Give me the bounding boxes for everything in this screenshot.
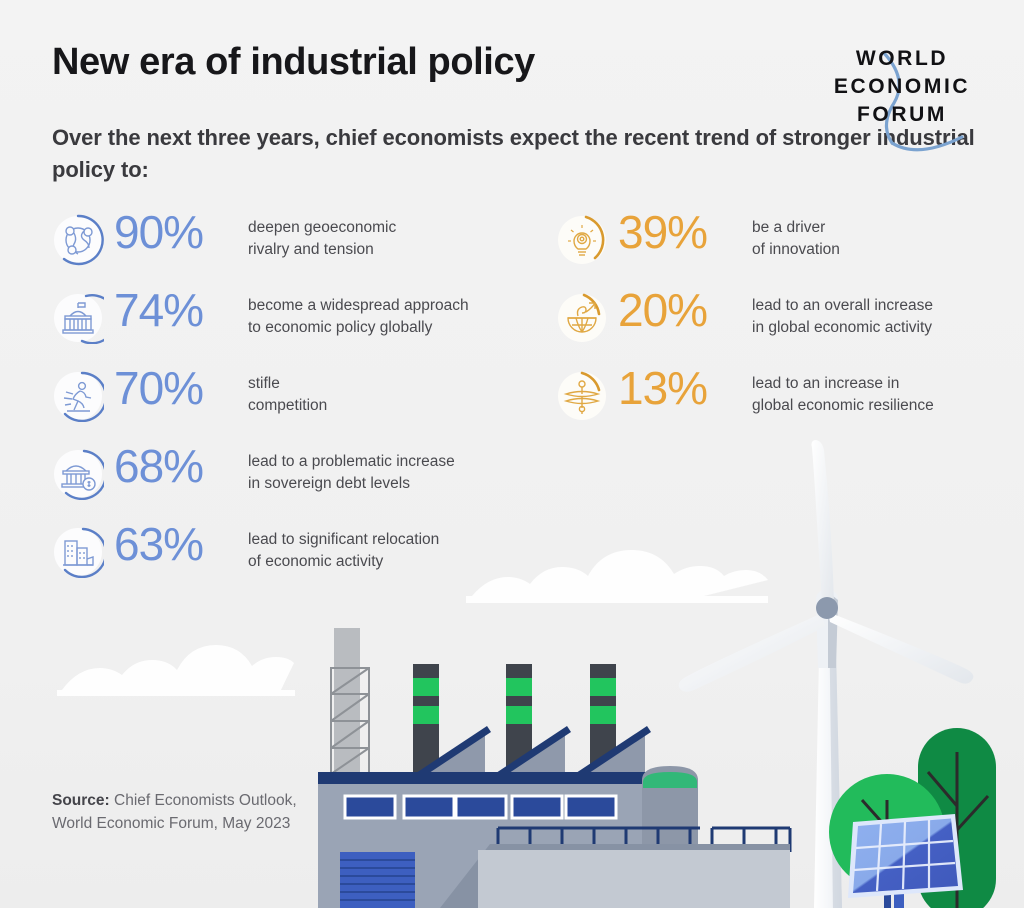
- stat-label: become a widespread approach to economic…: [248, 295, 578, 339]
- stat-label: deepen geoeconomic rivalry and tension: [248, 217, 578, 261]
- stat-label: lead to an increase in global economic r…: [752, 373, 1024, 417]
- stat-value: 39%: [618, 209, 707, 255]
- stat-value: 63%: [114, 521, 203, 567]
- stat-row: 13% lead to an increase in global econom…: [556, 370, 1024, 448]
- stat-label: stifle competition: [248, 373, 578, 417]
- stat-row: 70% stifle competition: [52, 370, 572, 448]
- stat-label: lead to an overall increase in global ec…: [752, 295, 1024, 339]
- bank-dollar-icon: [52, 448, 104, 500]
- stat-label: lead to significant relocation of econom…: [248, 529, 578, 573]
- stat-row: 39% be a driver of innovation: [556, 214, 1024, 292]
- balance-scales-icon: [556, 370, 608, 422]
- stats-column-left: 90% deepen geoeconomic rivalry and tensi…: [52, 214, 572, 604]
- infographic-canvas: New era of industrial policy Over the ne…: [0, 0, 1024, 908]
- stat-value: 68%: [114, 443, 203, 489]
- globe-network-icon: [52, 214, 104, 266]
- wef-logo-line2: ECONOMIC: [812, 73, 992, 101]
- stat-row: 74% become a widespread approach to econ…: [52, 292, 572, 370]
- stats-column-right: 39% be a driver of innovation 20%: [556, 214, 1024, 448]
- garage-door: [340, 852, 415, 908]
- wef-logo-line1: WORLD: [812, 45, 992, 73]
- stat-value: 20%: [618, 287, 707, 333]
- runner-icon: [52, 370, 104, 422]
- stat-row: 20% lead to an overall increase in globa…: [556, 292, 1024, 370]
- government-building-icon: [52, 292, 104, 344]
- stat-value: 74%: [114, 287, 203, 333]
- factory-windows: [345, 796, 616, 818]
- globe-growth-icon: [556, 292, 608, 344]
- source-prefix: Source:: [52, 792, 110, 809]
- buildings-relocation-icon: [52, 526, 104, 578]
- source-note: Source: Chief Economists Outlook, World …: [52, 790, 312, 836]
- stat-label: lead to a problematic increase in sovere…: [248, 451, 578, 495]
- page-title: New era of industrial policy: [52, 41, 535, 84]
- stat-label: be a driver of innovation: [752, 217, 1024, 261]
- wef-logo: WORLD ECONOMIC FORUM: [812, 45, 992, 157]
- stat-value: 13%: [618, 365, 707, 411]
- stat-row: 68% lead to a problematic increase in so…: [52, 448, 572, 526]
- stat-row: 90% deepen geoeconomic rivalry and tensi…: [52, 214, 572, 292]
- stat-row: 63% lead to significant relocation of ec…: [52, 526, 572, 604]
- stat-value: 70%: [114, 365, 203, 411]
- stat-value: 90%: [114, 209, 203, 255]
- lightbulb-gear-icon: [556, 214, 608, 266]
- wef-logo-line3: FORUM: [812, 101, 992, 129]
